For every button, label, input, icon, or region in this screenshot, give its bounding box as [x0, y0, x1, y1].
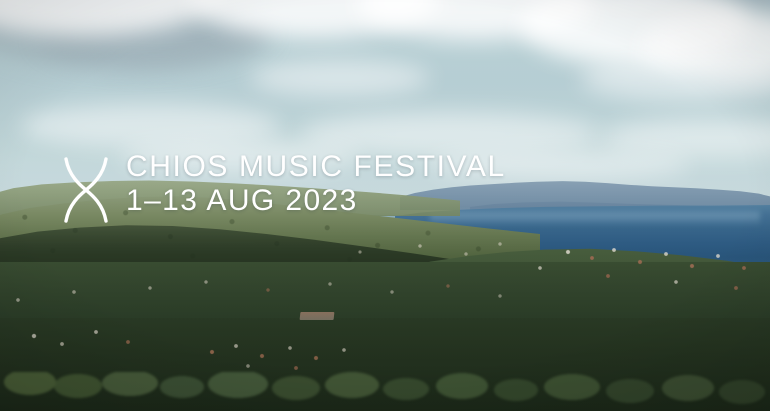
festival-title: CHIOS MUSIC FESTIVAL — [126, 150, 506, 184]
large-roof-building — [300, 312, 335, 320]
chios-x-mark-icon — [60, 156, 112, 224]
title-overlay: CHIOS MUSIC FESTIVAL 1–13 AUG 2023 — [60, 150, 506, 224]
title-block: CHIOS MUSIC FESTIVAL 1–13 AUG 2023 — [126, 150, 506, 218]
festival-hero-banner: CHIOS MUSIC FESTIVAL 1–13 AUG 2023 — [0, 0, 770, 411]
festival-dates: 1–13 AUG 2023 — [126, 184, 506, 218]
